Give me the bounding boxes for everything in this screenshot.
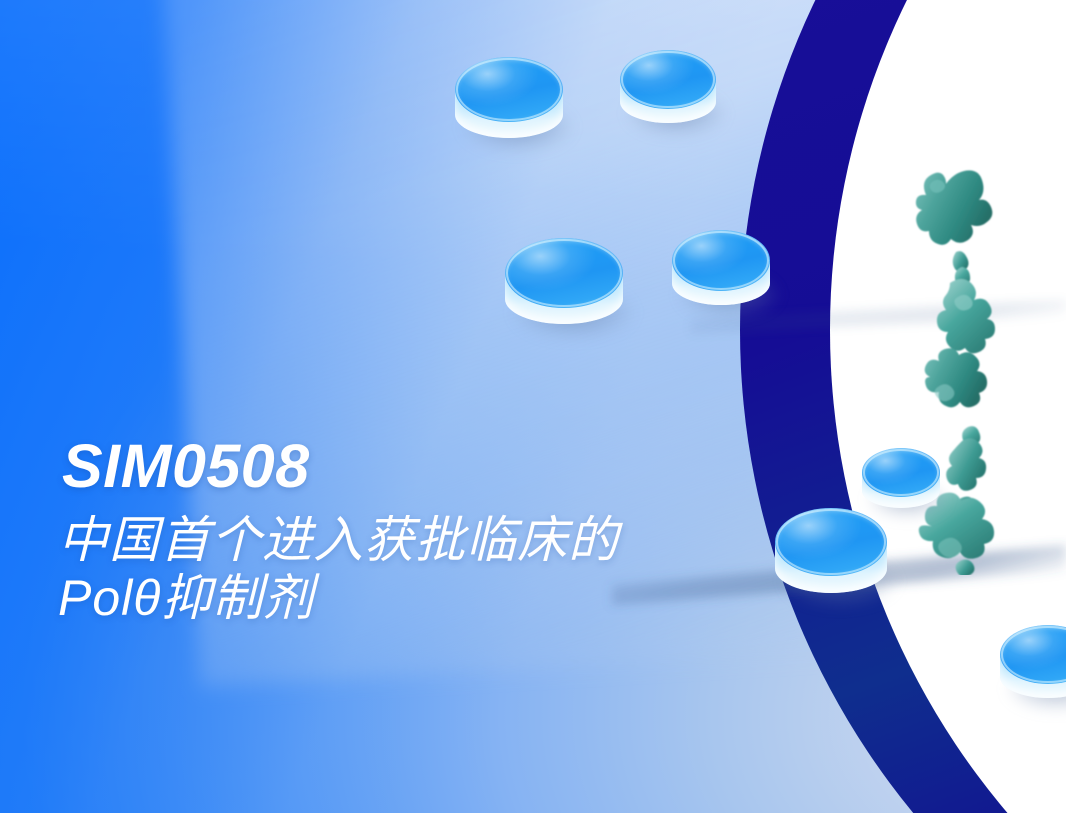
- pill-low-behind: [862, 448, 940, 512]
- poster-tagline: 中国首个进入获批临床的 Polθ抑制剂: [58, 511, 818, 627]
- pill-mid-right: [672, 230, 770, 310]
- pill-rim: [673, 231, 769, 290]
- product-poster: SIM0508 中国首个进入获批临床的 Polθ抑制剂: [0, 0, 1066, 813]
- pill-rim: [863, 449, 939, 496]
- pill-rim: [506, 239, 622, 307]
- pill-rim: [456, 58, 562, 122]
- tagline-line-1: 中国首个进入获批临床的: [58, 512, 619, 568]
- pill-low-left: [775, 508, 887, 598]
- pill-top-right: [620, 50, 716, 128]
- pill-mid-left: [505, 238, 623, 330]
- product-name-title: SIM0508: [62, 436, 818, 497]
- tagline-line-2: Polθ抑制剂: [58, 569, 818, 627]
- pill-rim: [776, 509, 886, 576]
- pill-rim: [621, 51, 715, 109]
- pill-bottom-right: [1000, 625, 1066, 703]
- poster-copy-block: SIM0508 中国首个进入获批临床的 Polθ抑制剂: [58, 436, 818, 627]
- pill-top-left: [455, 57, 563, 143]
